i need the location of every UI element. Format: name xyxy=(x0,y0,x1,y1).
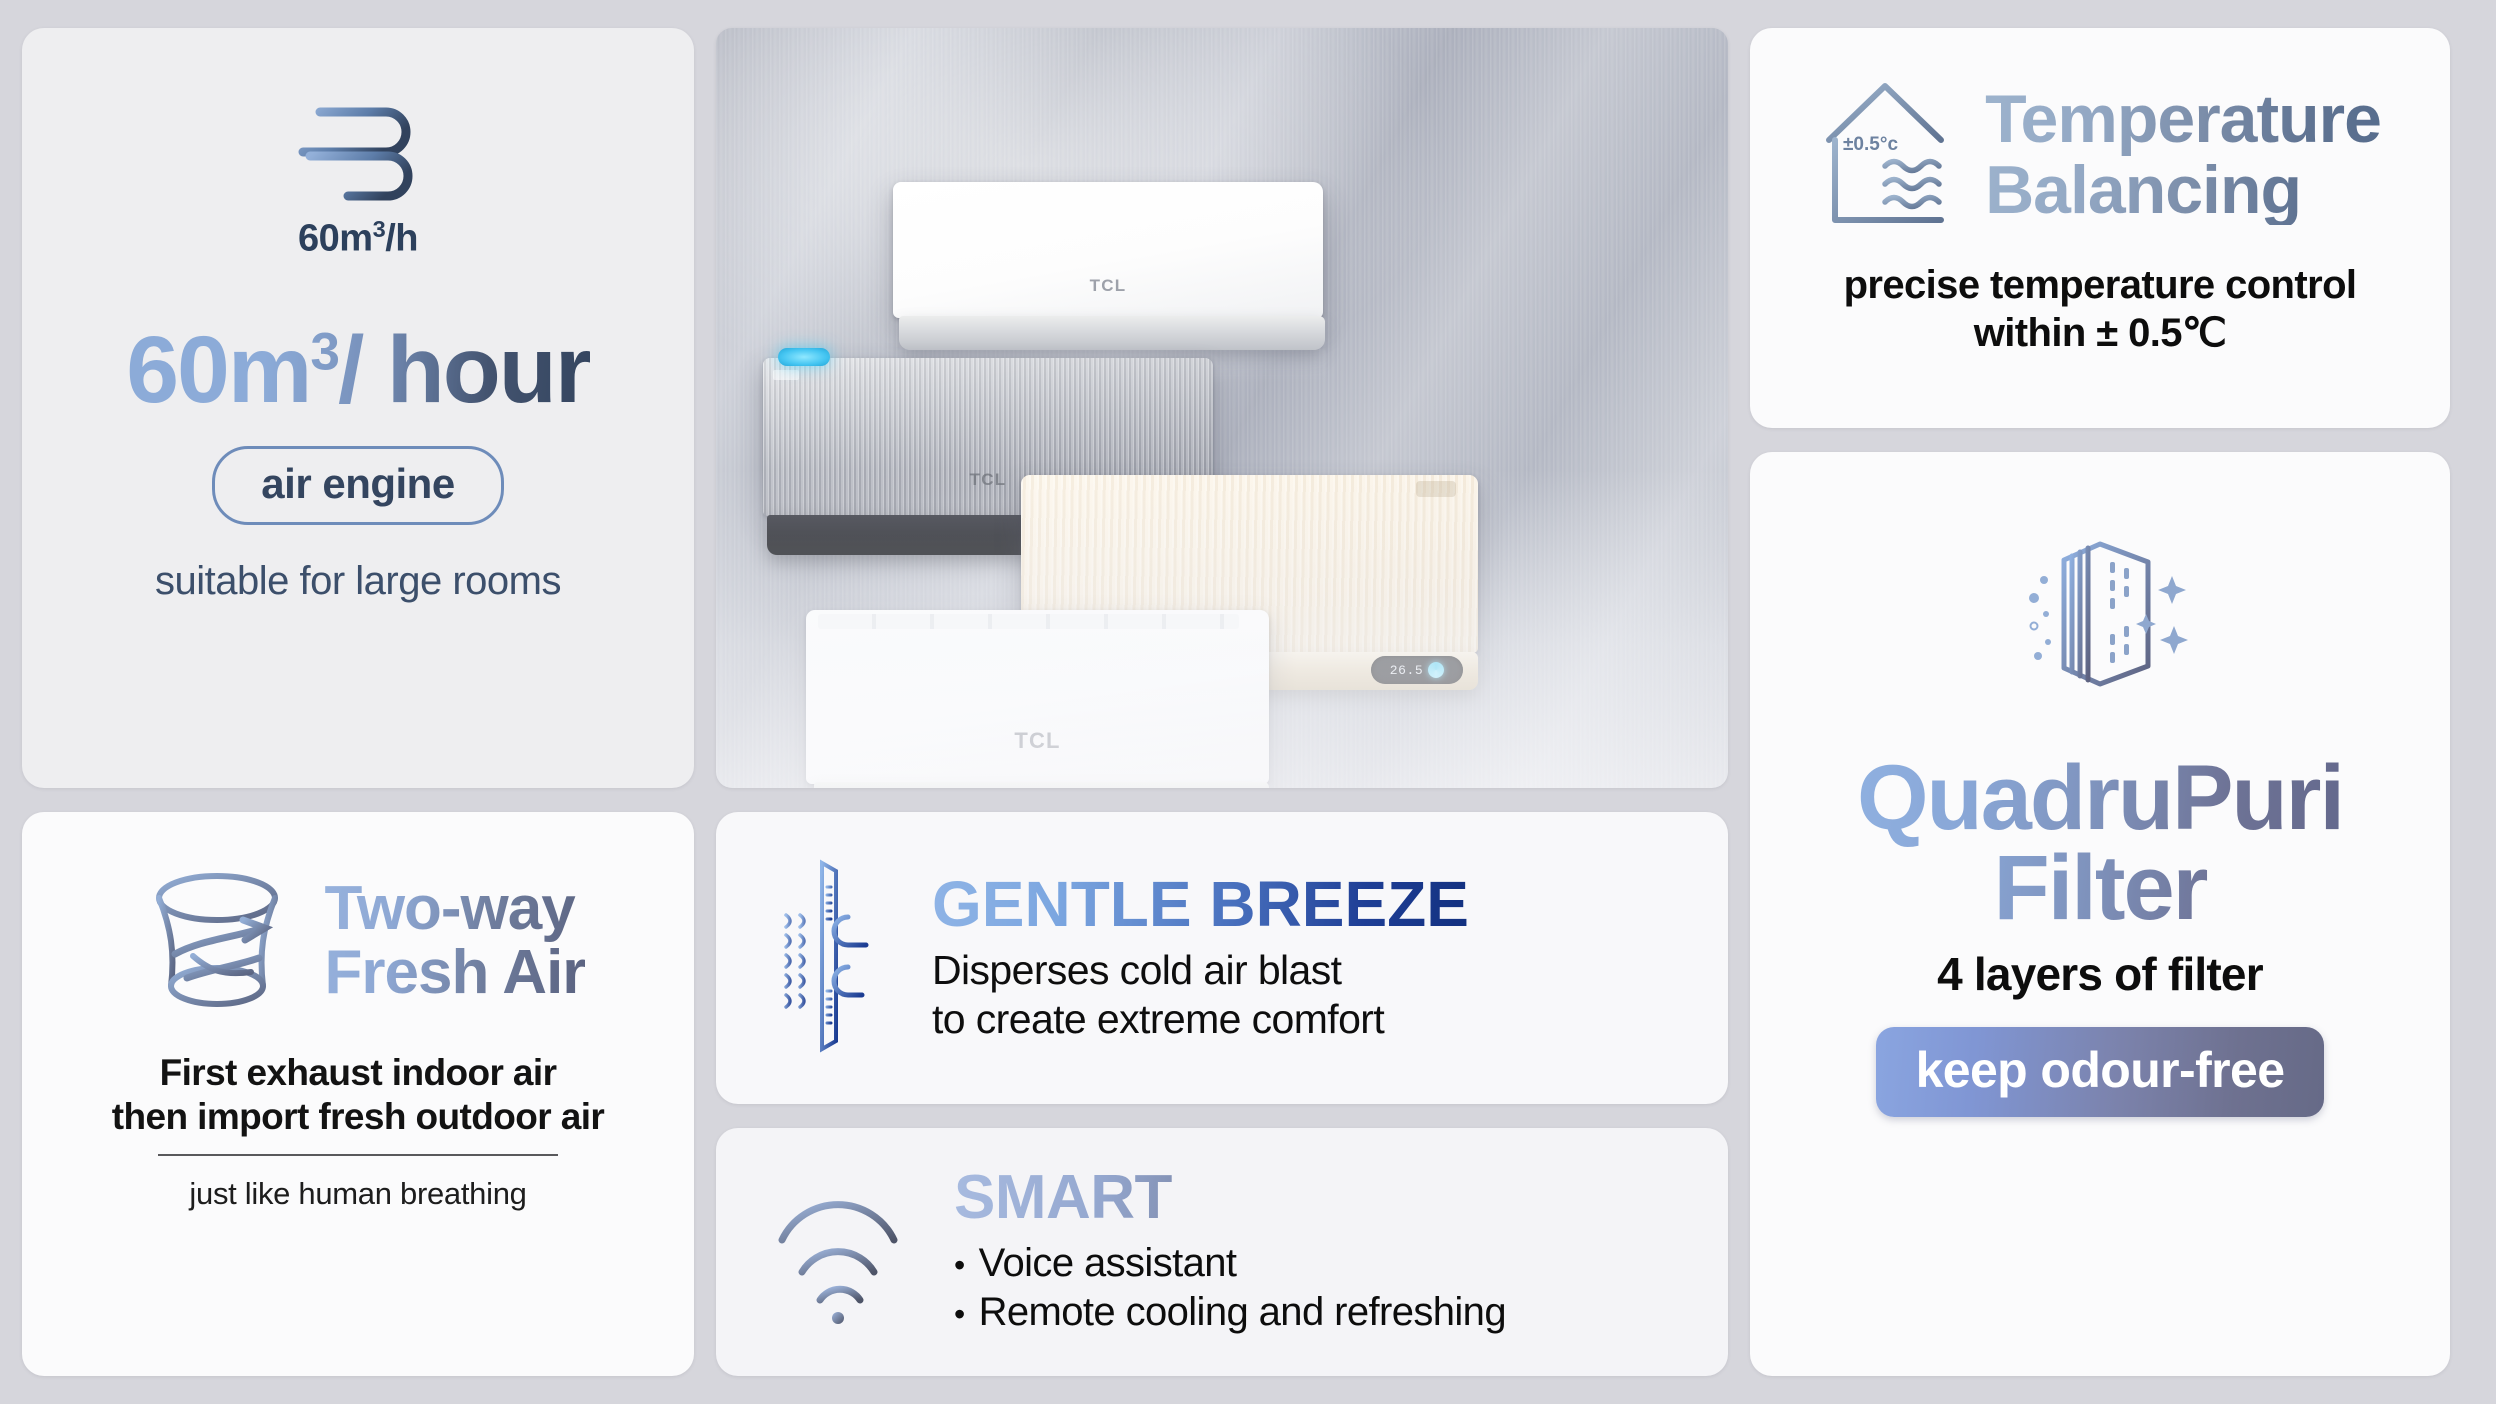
gentle-breeze-subtitle: Disperses cold air blast to create extre… xyxy=(932,946,1469,1044)
air-engine-badge: air engine xyxy=(212,446,503,525)
house-icon-label: ±0.5°c xyxy=(1843,134,1898,155)
two-way-body-line2: then import fresh outdoor air xyxy=(112,1095,604,1139)
house-thermal-icon: ±0.5°c xyxy=(1819,74,1969,235)
smart-title: SMART xyxy=(954,1167,1506,1229)
list-item-label: Remote cooling and refreshing xyxy=(979,1288,1506,1337)
left-column: 60m3/h 60m3/ hour air engine suitable fo… xyxy=(22,28,694,1376)
airflow-headline: 60m3/ hour xyxy=(126,323,590,418)
feature-board: 60m3/h 60m3/ hour air engine suitable fo… xyxy=(0,0,2496,1404)
list-item: • Remote cooling and refreshing xyxy=(954,1288,1506,1337)
breeze-panel-icon xyxy=(770,855,898,1060)
gentle-breeze-sub-line2: to create extreme comfort xyxy=(932,996,1384,1042)
ac-unit-white-top: TCL xyxy=(893,182,1323,318)
airflow-subtitle: suitable for large rooms xyxy=(155,559,561,604)
smart-feature-list: • Voice assistant • Remote cooling and r… xyxy=(954,1239,1506,1337)
two-way-airflow-icon xyxy=(131,858,303,1023)
wifi-icon xyxy=(774,1174,914,1329)
ac-unit-white-top-louver xyxy=(899,316,1325,350)
temperature-sub-line1: precise temperature control xyxy=(1844,261,2357,309)
temperature-sub-line2: within ± 0.5℃ xyxy=(1844,309,2357,357)
temperature-header: ±0.5°c Temperature Balancing xyxy=(1819,74,2381,235)
card-product-photo: TCL TCL TCL TCL TCL TCL TCL xyxy=(716,28,1728,788)
bullet-icon: • xyxy=(954,1249,965,1281)
gentle-breeze-text: GENTLE BREEZE Disperses cold air blast t… xyxy=(932,872,1469,1044)
two-way-body: First exhaust indoor air then import fre… xyxy=(112,1051,604,1138)
filter-title: QuadruPuri Filter xyxy=(1857,753,2343,933)
smart-text: SMART • Voice assistant • Remote cooling… xyxy=(954,1167,1506,1337)
list-item-label: Voice assistant xyxy=(979,1239,1237,1288)
card-airflow: 60m3/h 60m3/ hour air engine suitable fo… xyxy=(22,28,694,788)
divider xyxy=(158,1154,558,1156)
card-quadrupuri-filter: QuadruPuri Filter 4 layers of filter kee… xyxy=(1750,452,2450,1376)
wind-lines-icon xyxy=(268,90,448,210)
blue-led-indicator xyxy=(778,348,830,366)
filter-layers-icon xyxy=(2000,514,2200,719)
card-two-way-fresh-air: Two-way Fresh Air First exhaust indoor a… xyxy=(22,812,694,1376)
card-gentle-breeze: GENTLE BREEZE Disperses cold air blast t… xyxy=(716,812,1728,1104)
temperature-subtitle: precise temperature control within ± 0.5… xyxy=(1844,261,2357,357)
right-column: ±0.5°c Temperature Balancing precise tem… xyxy=(1750,28,2450,1376)
airflow-unit-label: 60m3/h xyxy=(298,216,418,261)
two-way-body-line1: First exhaust indoor air xyxy=(112,1051,604,1095)
gentle-breeze-title: GENTLE BREEZE xyxy=(932,872,1469,936)
temperature-title: Temperature Balancing xyxy=(1985,84,2381,225)
two-way-header: Two-way Fresh Air xyxy=(56,858,660,1023)
floor-reflection-glow xyxy=(716,469,1728,788)
tcl-logo: TCL xyxy=(1090,276,1127,296)
middle-column: TCL TCL TCL TCL TCL TCL TCL xyxy=(716,28,1728,1376)
card-temperature-balancing: ±0.5°c Temperature Balancing precise tem… xyxy=(1750,28,2450,428)
filter-subtitle: 4 layers of filter xyxy=(1937,947,2263,1001)
two-way-title: Two-way Fresh Air xyxy=(325,877,586,1003)
two-way-footnote: just like human breathing xyxy=(189,1176,526,1212)
badge xyxy=(773,370,799,380)
bullet-icon: • xyxy=(954,1298,965,1330)
gentle-breeze-sub-line1: Disperses cold air blast xyxy=(932,947,1341,993)
card-smart: SMART • Voice assistant • Remote cooling… xyxy=(716,1128,1728,1376)
list-item: • Voice assistant xyxy=(954,1239,1506,1288)
keep-odour-free-badge: keep odour-free xyxy=(1876,1027,2325,1117)
